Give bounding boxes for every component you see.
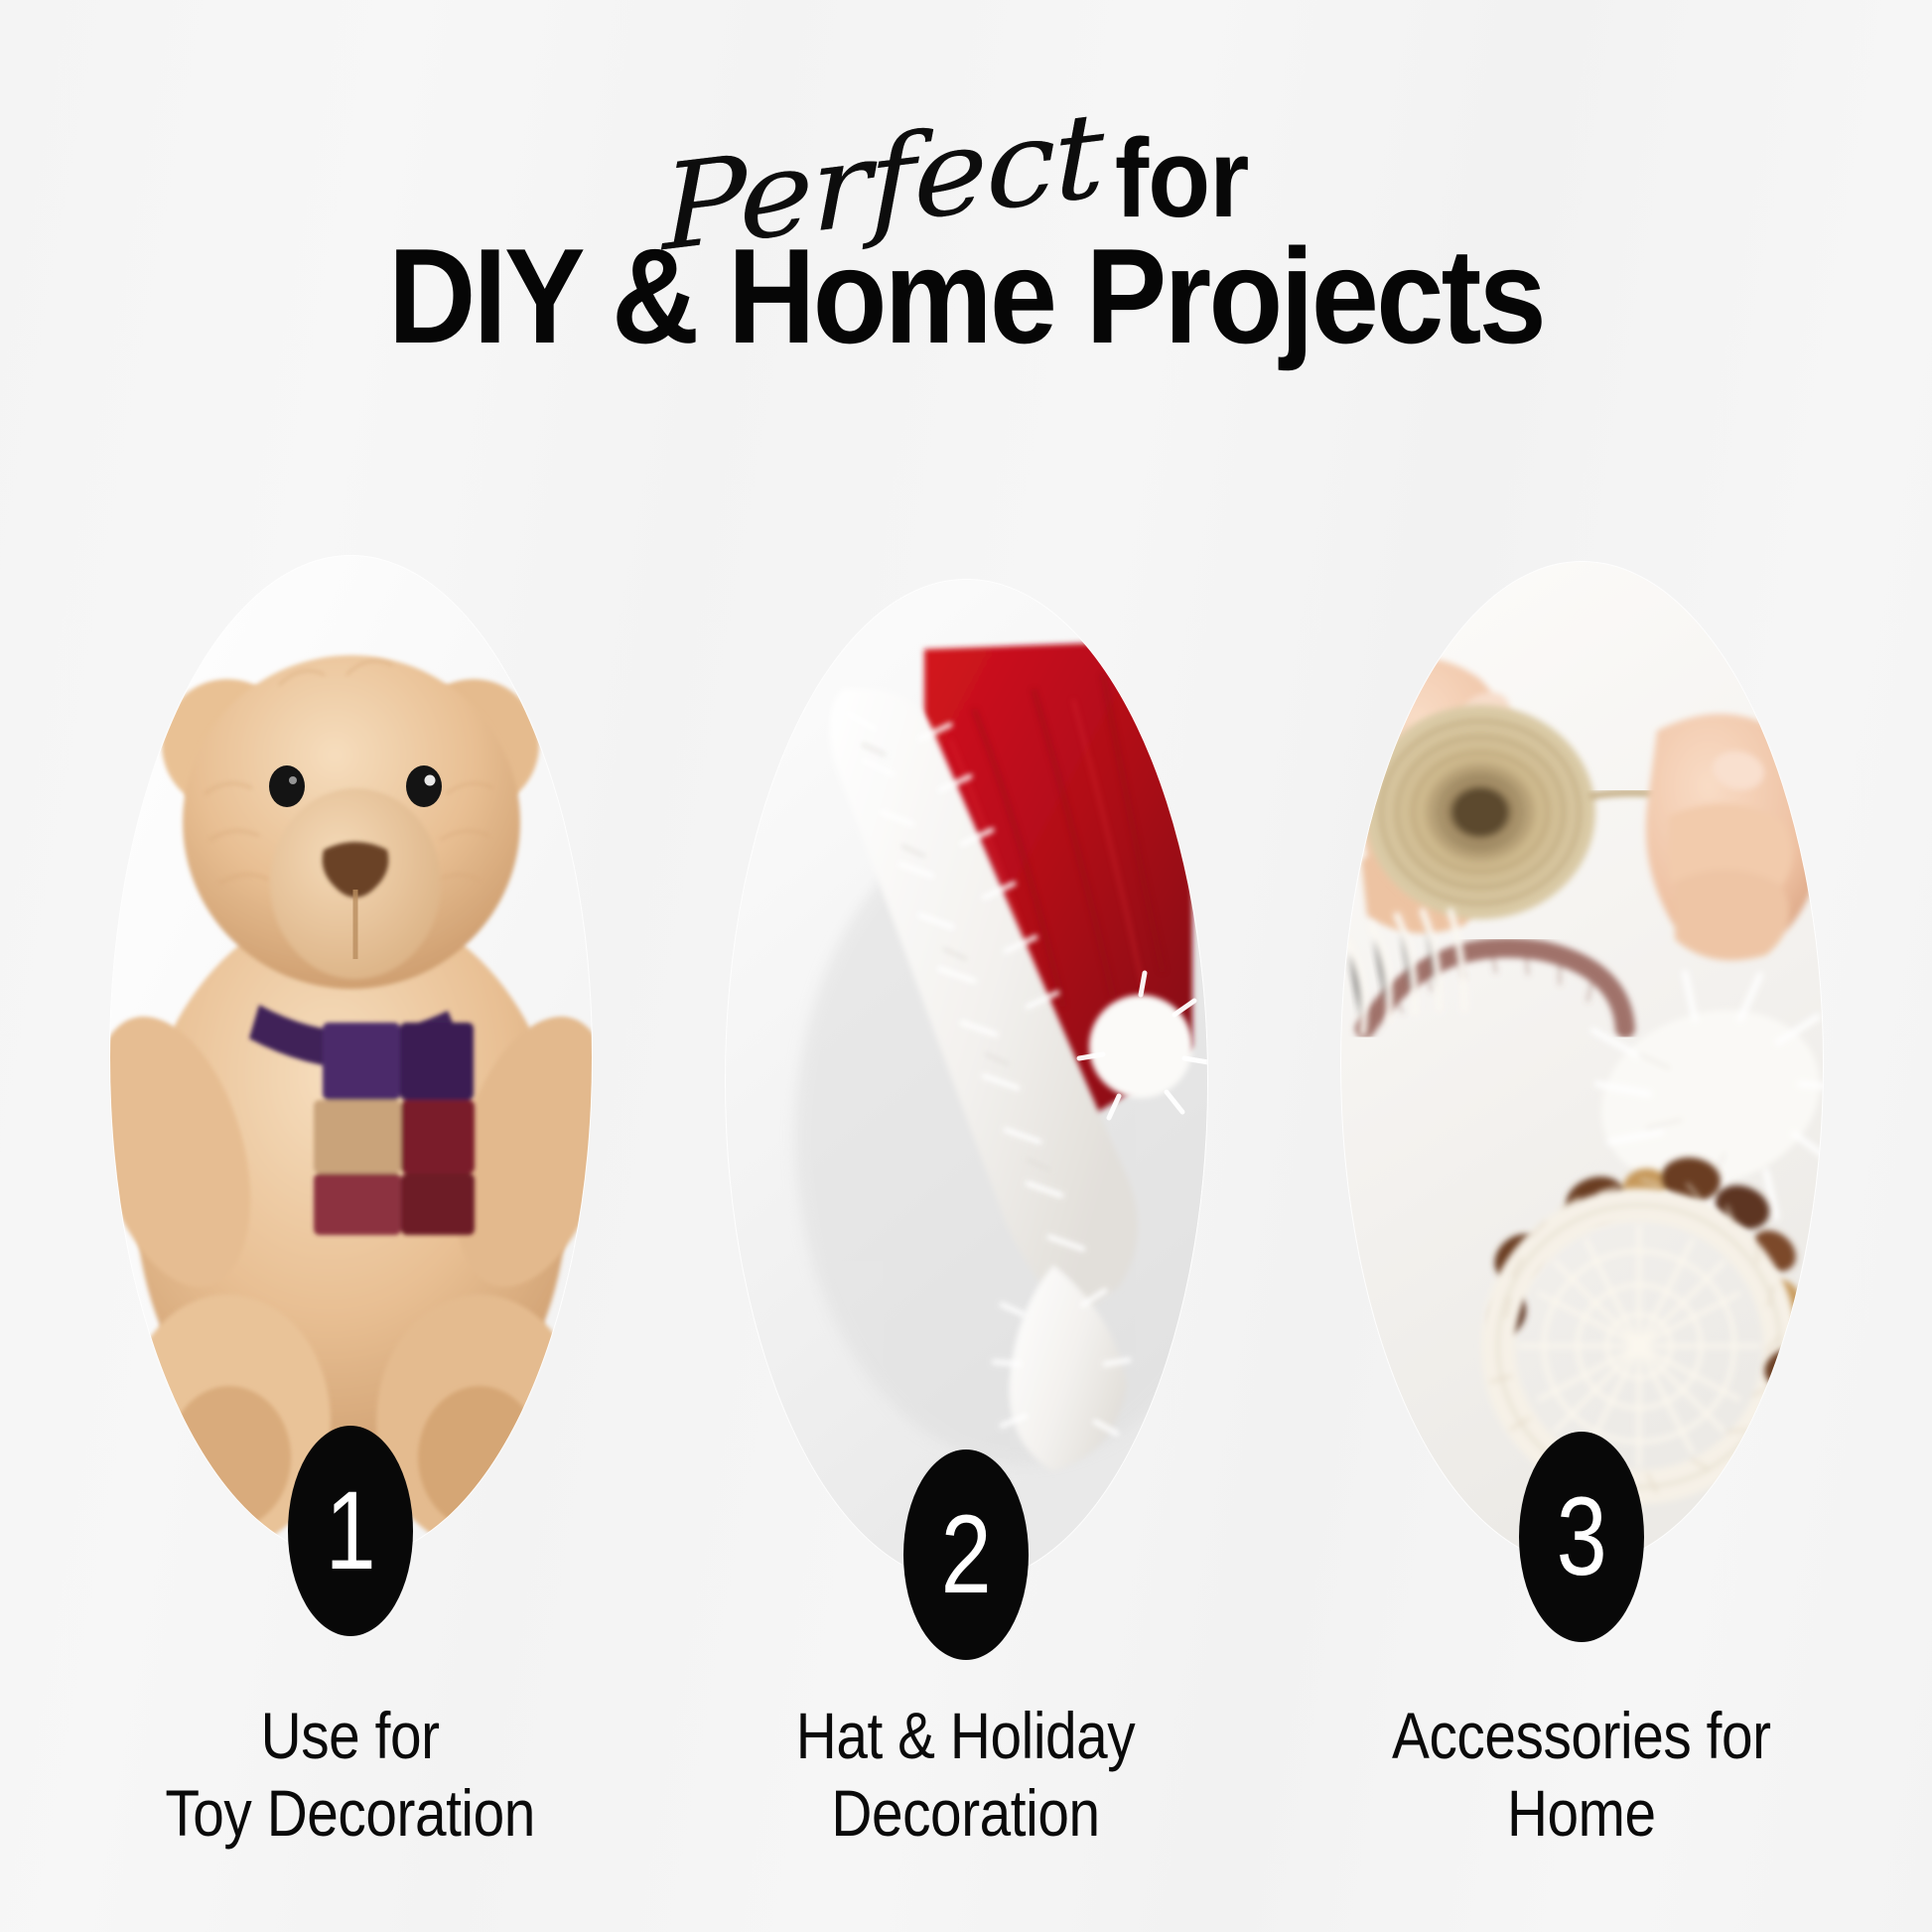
photo-santa-hat (726, 580, 1207, 1583)
page-title: Perfect for DIY & Home Projects (0, 85, 1932, 366)
feature-card-3: 3 Accessories for Home (1304, 556, 1860, 1853)
santa-hat-illustration (726, 580, 1207, 1583)
step-badge-3: 3 (1519, 1432, 1644, 1642)
headline-main-line: DIY & Home Projects (96, 226, 1835, 366)
step-badge-1: 1 (288, 1426, 413, 1636)
photo-dreamcatcher-craft (1341, 562, 1823, 1565)
poster-canvas: Perfect for DIY & Home Projects (0, 0, 1932, 1932)
step-number-3: 3 (1556, 1481, 1606, 1592)
step-number-1: 1 (325, 1475, 375, 1587)
oval-frame-3: 3 (1341, 562, 1823, 1565)
step-number-2: 2 (940, 1499, 991, 1610)
feature-cards: 1 Use for Toy Decoration (0, 556, 1932, 1853)
headline-for-word: for (1114, 123, 1248, 234)
oval-frame-1: 1 (110, 556, 592, 1559)
dreamcatcher-illustration (1341, 562, 1823, 1565)
photo-teddy-bear (110, 556, 592, 1559)
oval-frame-2: 2 (726, 580, 1207, 1583)
headline-script-word: Perfect (661, 95, 1103, 267)
feature-card-1: 1 Use for Toy Decoration (72, 556, 628, 1853)
caption-3: Accessories for Home (1392, 1698, 1771, 1853)
feature-card-2: 2 Hat & Holiday Decoration (688, 556, 1244, 1853)
caption-1: Use for Toy Decoration (166, 1698, 536, 1853)
step-badge-2: 2 (903, 1449, 1029, 1660)
headline-line-1: Perfect for (0, 85, 1932, 234)
caption-2: Hat & Holiday Decoration (796, 1698, 1135, 1853)
teddy-bear-illustration (110, 556, 592, 1559)
